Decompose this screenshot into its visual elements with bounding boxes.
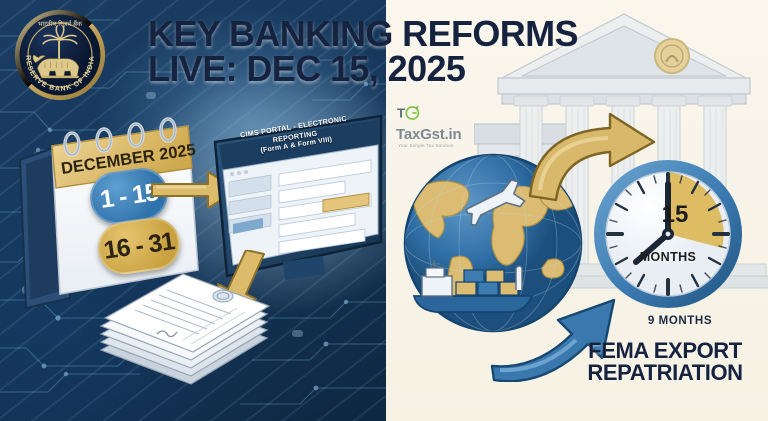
fema-title-line-1: FEMA EXPORT [588,338,742,363]
page-title: KEY BANKING REFORMS LIVE: DEC 15, 2025 [148,17,648,87]
infographic-banner: भारतीय रिज़र्व बैंक RESERVE BANK OF INDI… [0,0,768,421]
rbi-logo: भारतीय रिज़र्व बैंक RESERVE BANK OF INDI… [13,8,107,102]
fema-title-line-2: REPATRIATION [560,362,768,384]
watermark-name: TaxGst.in [396,126,502,143]
title-line-2: LIVE: DEC 15, 2025 [148,52,648,87]
clock-unit: MONTHS [614,250,722,264]
fema-title: FEMA EXPORT REPATRIATION [560,340,768,385]
svg-text:T: T [397,106,405,121]
clock-graphic: 15 MONTHS [592,158,744,310]
bank-seal-icon [655,39,689,73]
fema-duration: 9 MONTHS [600,315,760,327]
taxgst-logo-icon: T [396,98,452,128]
document-stack [95,272,295,407]
clock-value: 15 [652,200,698,230]
rbi-hindi-text: भारतीय रिज़र्व बैंक [38,20,83,28]
